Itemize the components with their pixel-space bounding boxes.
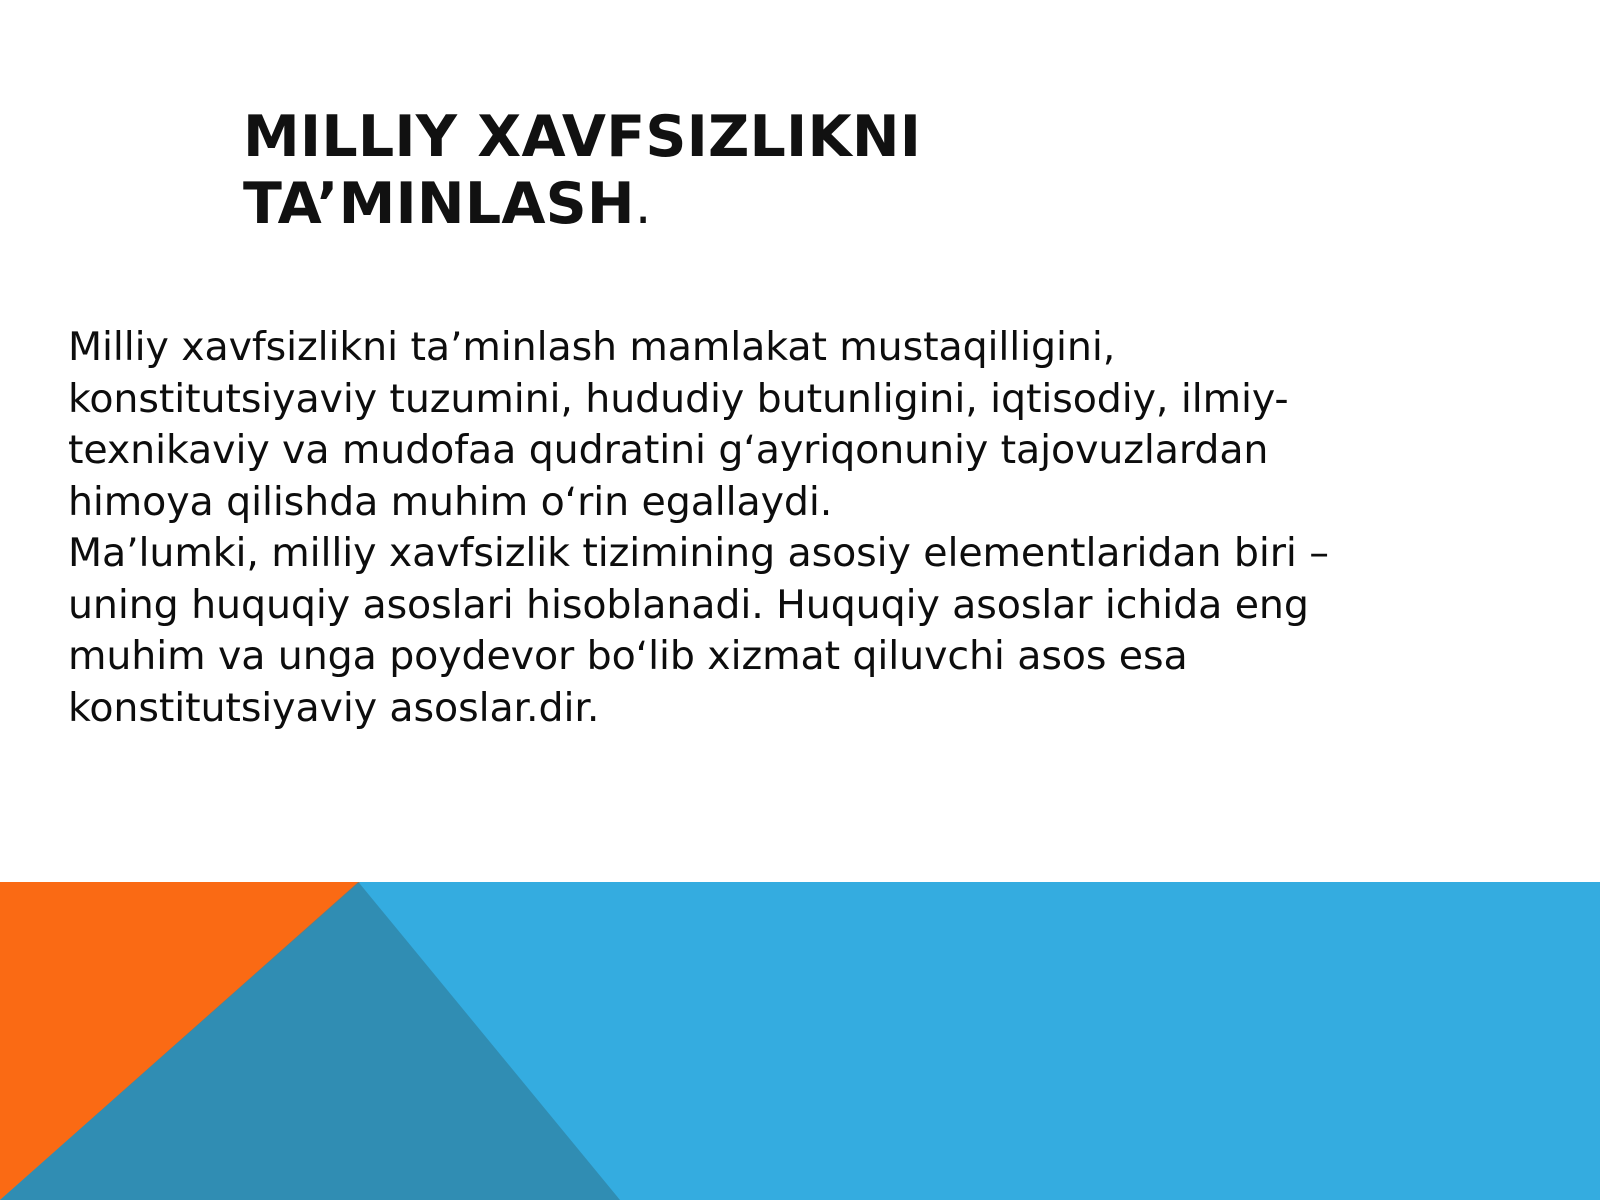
body-paragraph-2: Ma’lumki, milliy xavfsizlik tizimining a…: [68, 528, 1538, 734]
slide-title-block: MILLIY XAVFSIZLIKNI TA’MINLASH.: [243, 104, 1323, 237]
presentation-slide: MILLIY XAVFSIZLIKNI TA’MINLASH. Milliy x…: [0, 0, 1600, 1200]
bottom-decoration-band: [0, 882, 1600, 1200]
slide-title-period: .: [635, 176, 652, 236]
slide-body-block: Milliy xavfsizlikni ta’minlash mamlakat …: [68, 322, 1538, 734]
page-title: MILLIY XAVFSIZLIKNI TA’MINLASH.: [243, 104, 1323, 237]
slide-title-text: MILLIY XAVFSIZLIKNI TA’MINLASH: [243, 104, 921, 237]
body-paragraph-1: Milliy xavfsizlikni ta’minlash mamlakat …: [68, 322, 1538, 528]
